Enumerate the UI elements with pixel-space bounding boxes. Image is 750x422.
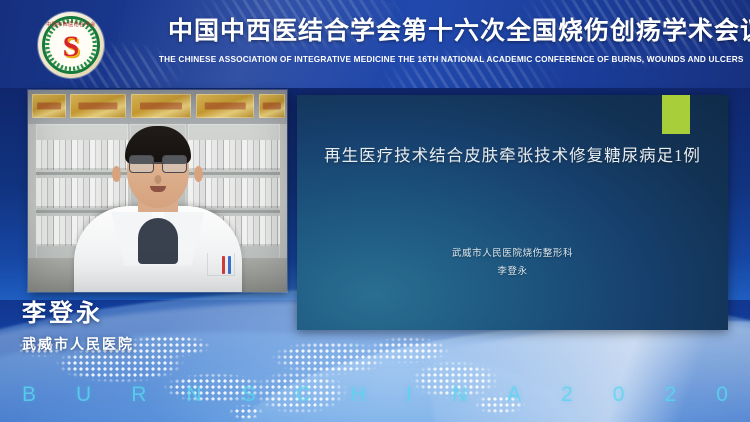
wordmark-letter: 2 xyxy=(561,383,573,407)
conference-title-cn: 中国中西医结合学会第十六次全国烧伤创疡学术会议 xyxy=(168,18,740,46)
slide-title: 再生医疗技术结合皮肤牵张技术修复糖尿病足1例 xyxy=(323,143,702,169)
wordmark-letter: H xyxy=(351,383,366,407)
wordmark-letter: 0 xyxy=(716,383,728,407)
video-vignette xyxy=(28,90,287,292)
wordmark-letter: N xyxy=(452,383,467,407)
association-logo-icon: 中国中西医结合学会 S xyxy=(38,12,104,78)
wordmark-letter: B xyxy=(22,383,36,407)
wordmark-letter: U xyxy=(76,383,91,407)
wordmark-letter: C xyxy=(296,383,311,407)
wordmark-letter: 2 xyxy=(664,383,676,407)
wordmark-letter: 0 xyxy=(613,383,625,407)
presentation-slide[interactable]: 再生医疗技术结合皮肤牵张技术修复糖尿病足1例 武威市人民医院烧伤整形科 李登永 xyxy=(297,95,728,330)
logo-s-mark: S xyxy=(63,32,80,62)
slide-accent-rectangle xyxy=(662,95,690,134)
wordmark-letter: S xyxy=(242,383,256,407)
wordmark-letter: N xyxy=(186,383,201,407)
speaker-name: 李登永 xyxy=(22,300,272,328)
speaker-organization: 武威市人民医院 xyxy=(22,334,272,354)
slide-subtitle: 武威市人民医院烧伤整形科 李登永 xyxy=(323,245,702,281)
wordmark-letter: A xyxy=(507,383,521,407)
conference-title-en: THE CHINESE ASSOCIATION OF INTEGRATIVE M… xyxy=(159,54,733,64)
broadcast-screen: 中国中西医结合学会 S 中国中西医结合学会第十六次全国烧伤创疡学术会议 THE … xyxy=(0,0,750,422)
slide-affiliation: 武威市人民医院烧伤整形科 xyxy=(323,245,702,263)
event-wordmark: BURNSCHINA2020 xyxy=(0,378,750,412)
slide-presenter: 李登永 xyxy=(323,263,702,281)
speaker-name-overlay: 李登永 武威市人民医院 xyxy=(22,300,272,354)
logo-inner-label: 中国中西医结合学会 xyxy=(46,21,96,28)
wordmark-letter: I xyxy=(406,383,412,407)
wordmark-letter: R xyxy=(131,383,146,407)
speaker-video-feed[interactable] xyxy=(28,90,287,292)
